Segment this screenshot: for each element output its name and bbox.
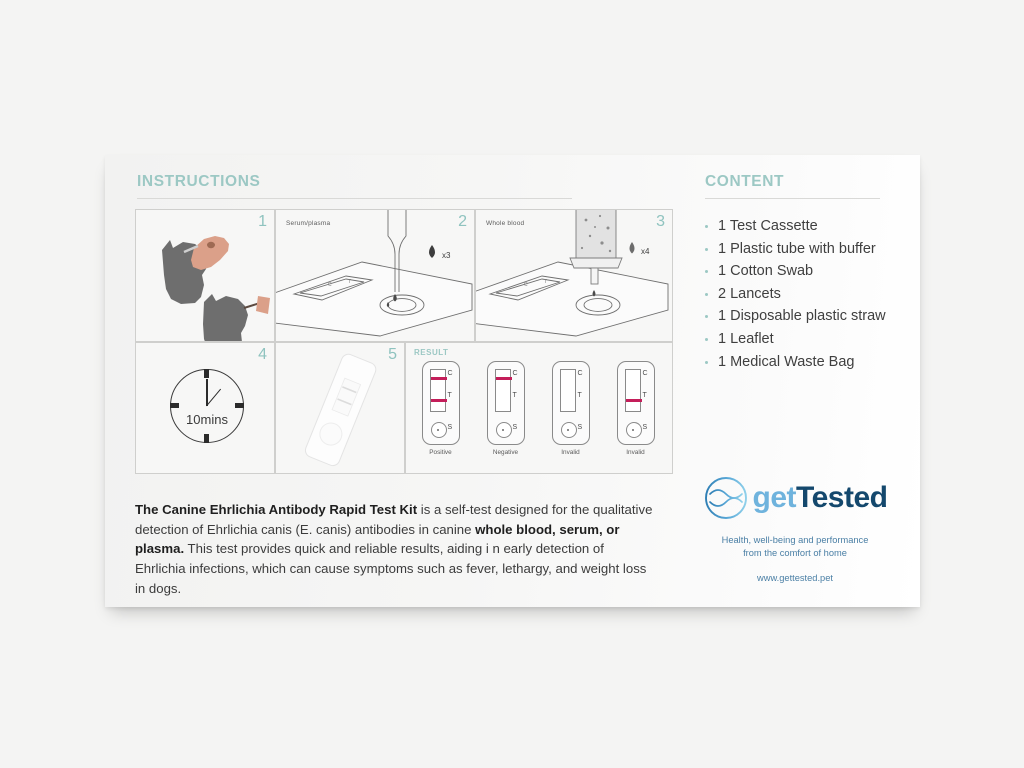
product-leaflet-card: INSTRUCTIONS CONTENT 1 <box>105 155 920 607</box>
label-s: S <box>578 424 583 431</box>
cassette-body: C T S <box>552 361 590 445</box>
svg-text:T: T <box>544 279 547 285</box>
brand-wordmark: getTested <box>753 483 888 513</box>
cassette-caption: Negative <box>477 449 534 456</box>
list-item: 1 Leaflet <box>705 328 886 351</box>
dna-helix-logo-icon <box>703 475 749 521</box>
panel-2-number: 2 <box>458 213 467 231</box>
timer-duration-label: 10mins <box>171 412 243 427</box>
content-heading-rule <box>705 198 880 199</box>
cassette-caption: Positive <box>412 449 469 456</box>
brand-tagline-line1: Health, well-being and performance <box>695 534 895 547</box>
label-c: C <box>448 370 453 377</box>
list-item: 1 Plastic tube with buffer <box>705 238 886 261</box>
instruction-panel-2: 2 Serum/plasma C T <box>275 209 475 342</box>
whole-blood-tube-illustration: C T x4 <box>476 210 673 342</box>
description-lead: The Canine Ehrlichia Antibody Rapid Test… <box>135 502 417 517</box>
instructions-heading: INSTRUCTIONS <box>137 173 572 191</box>
sample-well <box>561 422 577 438</box>
instruction-panel-4: 4 10mins <box>135 342 275 474</box>
brand-tagline-line2: from the comfort of home <box>695 547 895 560</box>
result-title: RESULT <box>414 348 448 357</box>
instructions-heading-rule <box>137 198 572 199</box>
content-heading: CONTENT <box>705 173 880 191</box>
clock-tick-6 <box>204 434 209 443</box>
sample-well <box>626 422 642 438</box>
test-band <box>626 399 642 402</box>
cassette-caption: Invalid <box>607 449 664 456</box>
label-t: T <box>578 392 582 399</box>
list-item: 1 Medical Waste Bag <box>705 351 886 374</box>
result-cassette-invalid-1: C T S Invalid <box>542 361 599 456</box>
clock-tick-9 <box>170 403 179 408</box>
clock-tick-12 <box>204 369 209 378</box>
tilted-cassette-illustration <box>276 343 405 474</box>
brand-tagline: Health, well-being and performance from … <box>695 534 895 560</box>
cassette-body: C T S <box>617 361 655 445</box>
cassette-caption: Invalid <box>542 449 599 456</box>
list-item: 2 Lancets <box>705 283 886 306</box>
panel-4-number: 4 <box>258 346 267 364</box>
clock-hour-hand <box>206 389 221 407</box>
cassette-window <box>495 369 511 412</box>
result-cassette-negative: C T S Negative <box>477 361 534 456</box>
description-part2: This test provides quick and reliable re… <box>135 541 646 595</box>
cassette-body: C T S <box>422 361 460 445</box>
brand-logo-row: getTested <box>695 475 895 521</box>
list-item: 1 Disposable plastic straw <box>705 305 886 328</box>
list-item: 1 Test Cassette <box>705 215 886 238</box>
svg-text:x4: x4 <box>641 247 650 256</box>
label-c: C <box>513 370 518 377</box>
sample-well <box>496 422 512 438</box>
control-band <box>496 377 512 380</box>
brand-name-part1: get <box>753 481 797 514</box>
label-s: S <box>448 424 453 431</box>
instruction-panel-1: 1 <box>135 209 275 342</box>
instruction-panel-5: 5 <box>275 342 405 474</box>
brand-block: getTested Health, well-being and perform… <box>695 475 895 583</box>
label-s: S <box>643 424 648 431</box>
cassette-window <box>560 369 576 412</box>
result-cassette-invalid-2: C T S Invalid <box>607 361 664 456</box>
panel-1-number: 1 <box>258 213 267 231</box>
panel-5-number: 5 <box>388 346 397 364</box>
label-s: S <box>513 424 518 431</box>
label-t: T <box>448 392 452 399</box>
serum-dropper-illustration: C T x3 <box>276 210 475 342</box>
label-c: C <box>643 370 648 377</box>
cassette-window <box>430 369 446 412</box>
instructions-section-header: INSTRUCTIONS <box>137 173 572 199</box>
panel-2-label: Serum/plasma <box>286 220 330 227</box>
label-t: T <box>643 392 647 399</box>
control-band <box>431 377 447 380</box>
list-item: 1 Cotton Swab <box>705 260 886 283</box>
cassette-window <box>625 369 641 412</box>
instruction-panel-3: 3 Whole blood C T <box>475 209 673 342</box>
content-section-header: CONTENT <box>705 173 880 199</box>
result-panel: RESULT C T S Positive <box>405 342 673 474</box>
instruction-panel-grid: 1 2 Serum/plasma <box>135 209 673 474</box>
svg-text:C: C <box>524 282 528 288</box>
content-items-list: 1 Test Cassette 1 Plastic tube with buff… <box>705 215 886 373</box>
clock-tick-3 <box>235 403 244 408</box>
panel-3-number: 3 <box>656 213 665 231</box>
brand-name-part2: Tested <box>796 481 887 514</box>
svg-text:T: T <box>348 279 351 285</box>
result-cassette-positive: C T S Positive <box>412 361 469 456</box>
panel-3-label: Whole blood <box>486 220 524 227</box>
dog-swab-illustration <box>136 210 275 342</box>
svg-text:C: C <box>328 282 332 288</box>
clock-minute-hand <box>206 379 208 406</box>
brand-website-url: www.gettested.pet <box>695 573 895 583</box>
svg-text:x3: x3 <box>442 251 451 260</box>
product-description: The Canine Ehrlichia Antibody Rapid Test… <box>135 500 655 598</box>
timer-clock-icon: 10mins <box>170 369 244 443</box>
sample-well <box>431 422 447 438</box>
test-band <box>431 399 447 402</box>
cassette-body: C T S <box>487 361 525 445</box>
label-t: T <box>513 392 517 399</box>
label-c: C <box>578 370 583 377</box>
